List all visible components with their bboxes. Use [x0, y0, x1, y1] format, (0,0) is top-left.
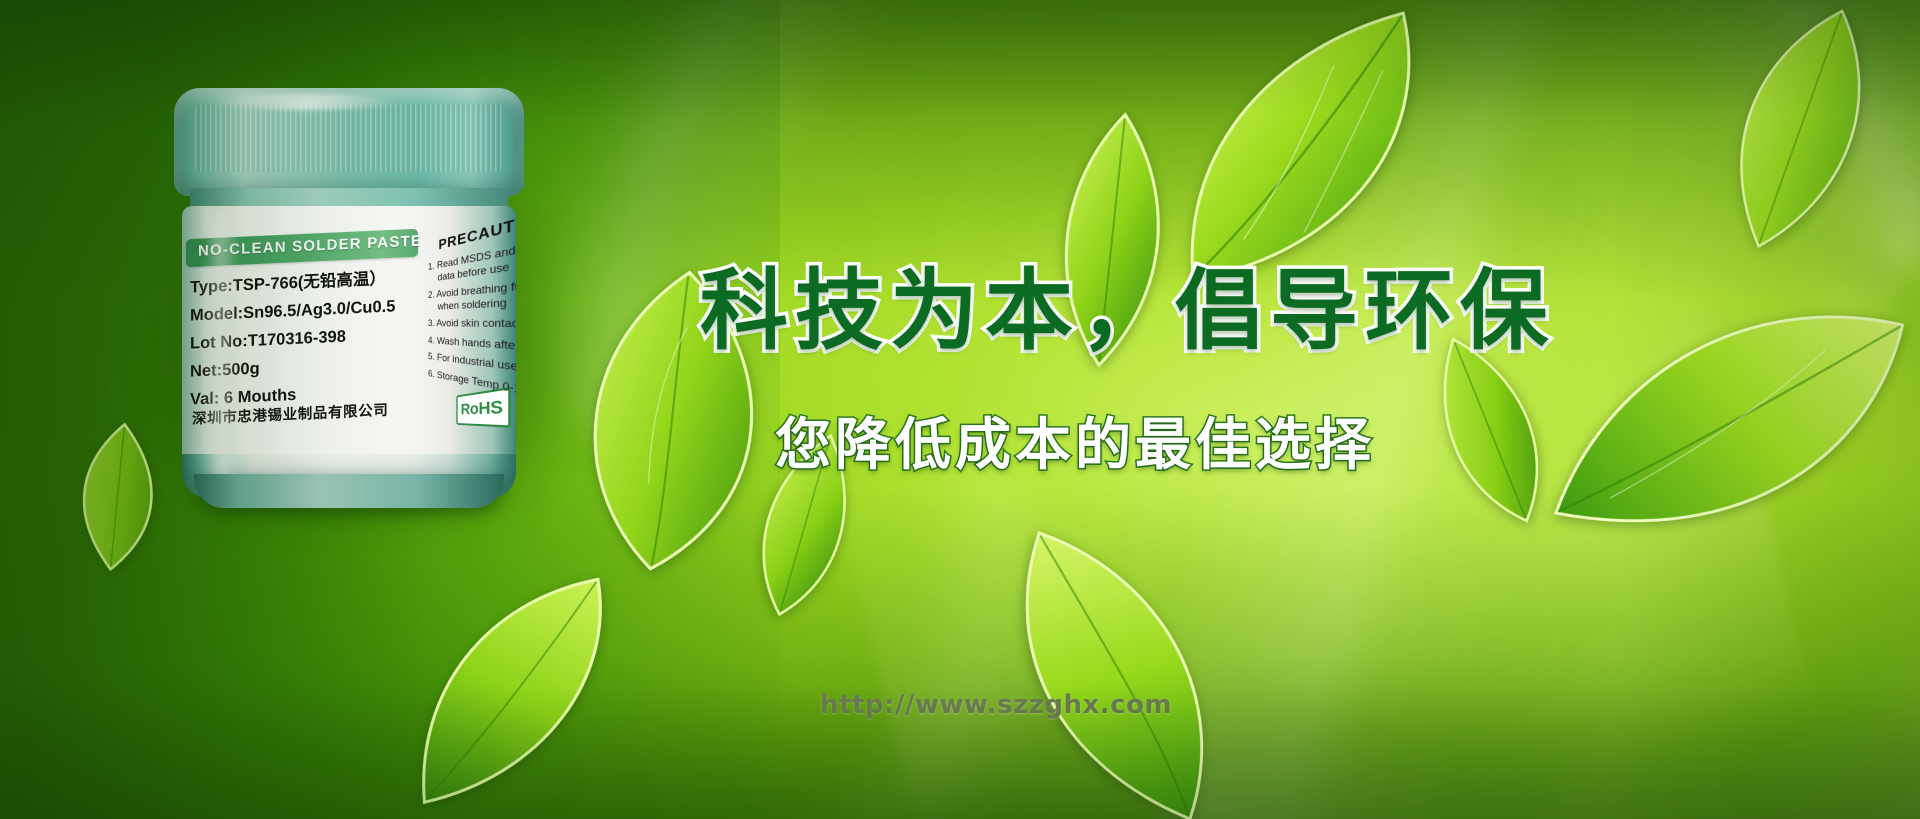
headline: 科技为本，倡导环保: [700, 240, 1555, 367]
subheadline: 您降低成本的最佳选择: [775, 400, 1375, 481]
promotional-banner: NO-CLEAN SOLDER PASTE Type:TSP-766(无铅高温）…: [0, 0, 1920, 819]
website-url[interactable]: http://www.szzghx.com: [820, 690, 1172, 720]
banner-copy: 科技为本，倡导环保 您降低成本的最佳选择 http://www.szzghx.c…: [0, 0, 1920, 819]
